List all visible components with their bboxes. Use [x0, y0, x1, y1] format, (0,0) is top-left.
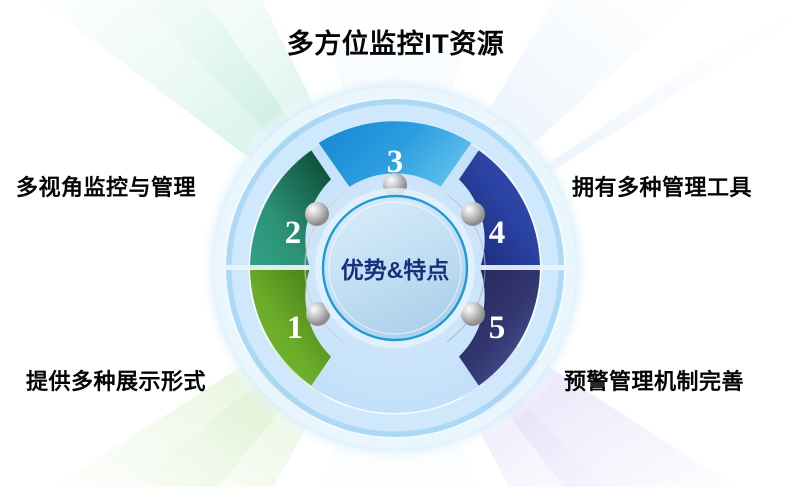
infographic-canvas: 1 2 3 4 5 [0, 0, 791, 487]
segment-5-number: 5 [489, 310, 506, 346]
segment-2-number: 2 [285, 215, 302, 251]
label-segment-2: 多视角监控与管理 [16, 170, 196, 202]
segmented-wheel: 1 2 3 4 5 [0, 0, 791, 487]
label-segment-1: 提供多种展示形式 [26, 364, 206, 396]
segment-4-marker[interactable] [461, 202, 485, 226]
center-label: 优势&特点 [341, 257, 450, 283]
segment-2-marker[interactable] [305, 202, 329, 226]
divider-left [215, 265, 310, 270]
label-segment-4: 拥有多种管理工具 [572, 170, 752, 202]
divider-right [480, 265, 575, 270]
label-segment-5: 预警管理机制完善 [564, 364, 744, 396]
diagram-title: 多方位监控IT资源 [0, 22, 791, 61]
segment-4-number: 4 [489, 215, 506, 251]
segment-1-number: 1 [287, 310, 304, 346]
